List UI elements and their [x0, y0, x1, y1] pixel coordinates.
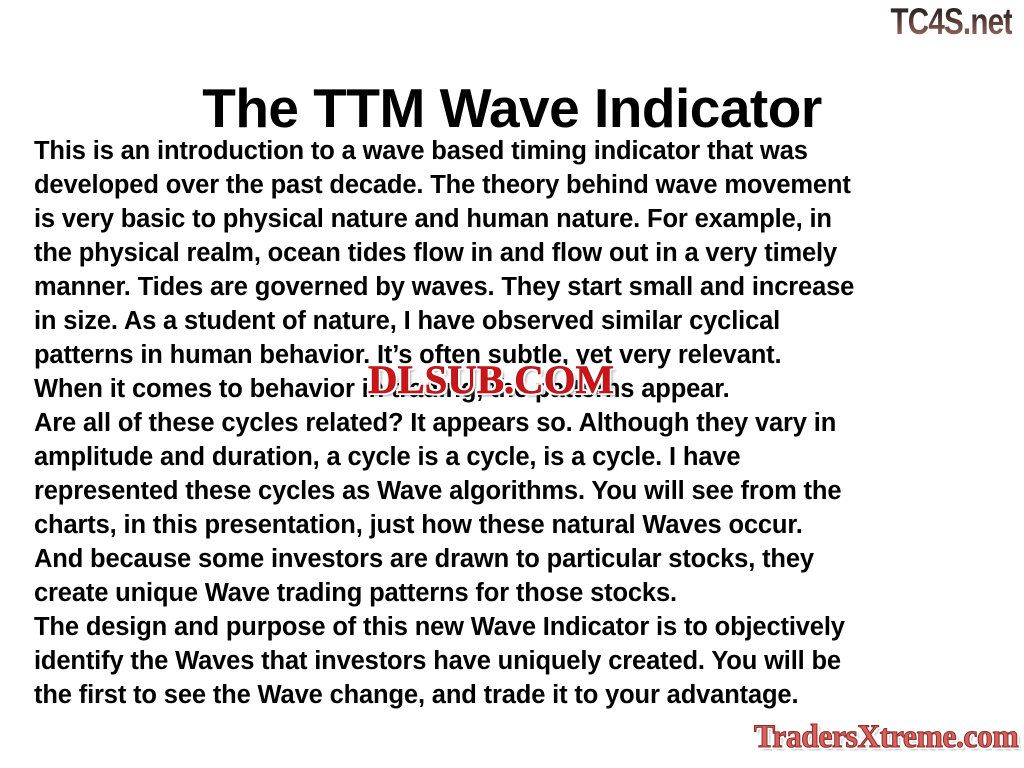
body-line: manner. Tides are governed by waves. The… [34, 270, 998, 304]
body-line: identify the Waves that investors have u… [34, 644, 998, 678]
dlsub-watermark: DLSUB.COM [368, 359, 614, 401]
body-line: And because some investors are drawn to … [34, 542, 998, 576]
page-title: The TTM Wave Indicator [0, 77, 1024, 139]
body-line: This is an introduction to a wave based … [34, 134, 998, 168]
tc4s-logo: TC4S.net [890, 2, 1012, 42]
body-line: Are all of these cycles related? It appe… [34, 406, 998, 440]
body-paragraph-block: This is an introduction to a wave based … [34, 134, 998, 712]
body-line: create unique Wave trading patterns for … [34, 576, 998, 610]
body-line: the physical realm, ocean tides flow in … [34, 236, 998, 270]
body-line: amplitude and duration, a cycle is a cyc… [34, 440, 998, 474]
tradersxtreme-logo: TradersXtreme.com [754, 718, 1018, 756]
body-line: is very basic to physical nature and hum… [34, 202, 998, 236]
body-line: in size. As a student of nature, I have … [34, 304, 998, 338]
slide-canvas: TC4S.net The TTM Wave Indicator This is … [0, 0, 1024, 768]
body-line: developed over the past decade. The theo… [34, 168, 998, 202]
body-line: the first to see the Wave change, and tr… [34, 678, 998, 712]
body-line: represented these cycles as Wave algorit… [34, 474, 998, 508]
body-line: charts, in this presentation, just how t… [34, 508, 998, 542]
body-line: The design and purpose of this new Wave … [34, 610, 998, 644]
